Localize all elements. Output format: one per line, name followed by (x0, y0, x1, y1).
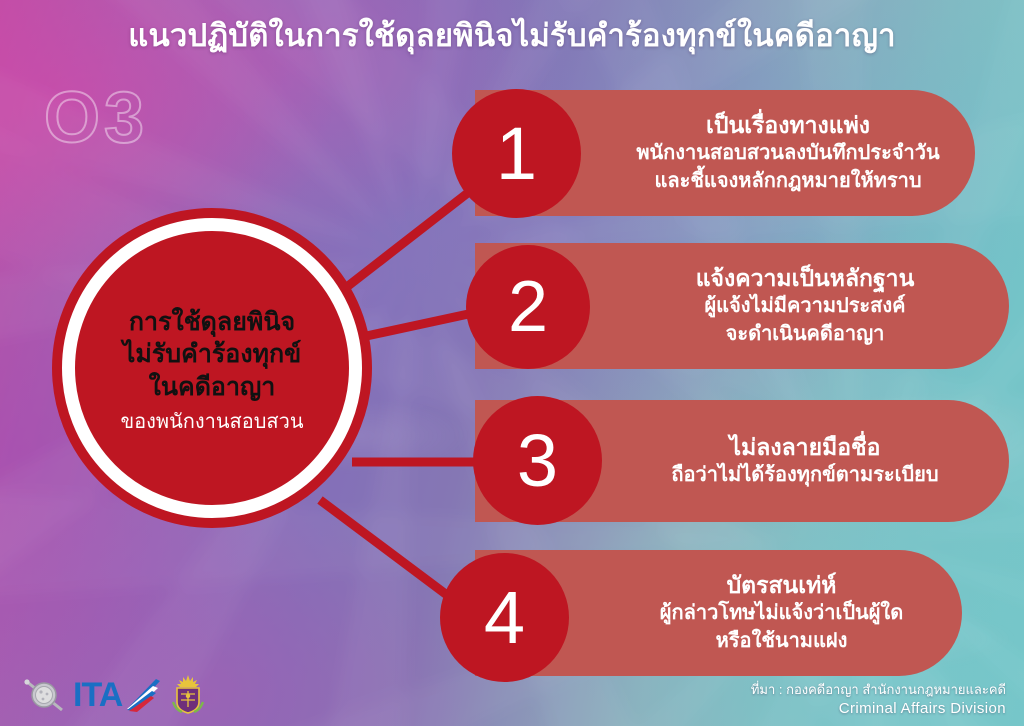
item-number-circle-1: 1 (452, 89, 581, 218)
item-title-3: ไม่ลงลายมือชื่อ (627, 433, 983, 461)
center-node-content: การใช้ดุลยพินิจ ไม่รับคำร้องทุกข์ ในคดีอ… (85, 302, 340, 435)
footer-source: ที่มา : กองคดีอาญา สำนักงานกฎหมายและคดี … (751, 682, 1006, 718)
seal-emblem-icon (22, 675, 66, 715)
thai-flag-swoosh-icon (123, 677, 163, 713)
item-text-3: ไม่ลงลายมือชื่อ ถือว่าไม่ได้ร้องทุกข์ตาม… (627, 433, 983, 489)
item-desc-2-line-1: ผู้แจ้งไม่มีความประสงค์ (627, 294, 983, 320)
item-text-4: บัตรสนเท่ห์ ผู้กล่าวโทษไม่แจ้งว่าเป็นผู้… (627, 571, 936, 654)
footer-logos: ITA (22, 674, 206, 716)
ita-logo-text: ITA (73, 678, 122, 712)
item-desc-4-line-2: หรือใช้นามแฝง (627, 629, 936, 655)
item-number-circle-2: 2 (466, 245, 590, 369)
center-node: การใช้ดุลยพินิจ ไม่รับคำร้องทุกข์ ในคดีอ… (52, 208, 372, 528)
item-text-1: เป็นเรื่องทางแพ่ง พนักงานสอบสวนลงบันทึกป… (627, 111, 949, 194)
item-desc-1-line-2: และชี้แจงหลักกฎหมายให้ทราบ (627, 169, 949, 195)
connector-line-1 (330, 178, 487, 300)
center-title-line-1: การใช้ดุลยพินิจ (85, 306, 340, 339)
item-text-2: แจ้งความเป็นหลักฐาน ผู้แจ้งไม่มีความประส… (627, 264, 983, 347)
item-title-2: แจ้งความเป็นหลักฐาน (627, 264, 983, 292)
item-desc-2-line-2: จะดำเนินคดีอาญา (627, 322, 983, 348)
item-number-circle-3: 3 (473, 396, 602, 525)
center-title-line-2: ไม่รับคำร้องทุกข์ (85, 338, 340, 371)
ita-logo: ITA (73, 677, 163, 713)
infographic-canvas: แนวปฏิบัติในการใช้ดุลยพินิจไม่รับคำร้องท… (0, 0, 1024, 726)
item-title-1: เป็นเรื่องทางแพ่ง (627, 111, 949, 139)
royal-crest-icon (170, 674, 206, 716)
footer-source-english: Criminal Affairs Division (751, 699, 1006, 719)
item-desc-4-line-1: ผู้กล่าวโทษไม่แจ้งว่าเป็นผู้ใด (627, 601, 936, 627)
item-title-4: บัตรสนเท่ห์ (627, 571, 936, 599)
page-title: แนวปฏิบัติในการใช้ดุลยพินิจไม่รับคำร้องท… (0, 17, 1024, 56)
item-desc-1-line-1: พนักงานสอบสวนลงบันทึกประจำวัน (627, 141, 949, 167)
footer-source-thai: ที่มา : กองคดีอาญา สำนักงานกฎหมายและคดี (751, 682, 1006, 699)
item-number-circle-4: 4 (440, 553, 569, 682)
item-desc-3-line-1: ถือว่าไม่ได้ร้องทุกข์ตามระเบียบ (627, 463, 983, 489)
center-title-line-3: ในคดีอาญา (85, 371, 340, 404)
center-subtitle: ของพนักงานสอบสวน (85, 410, 340, 434)
